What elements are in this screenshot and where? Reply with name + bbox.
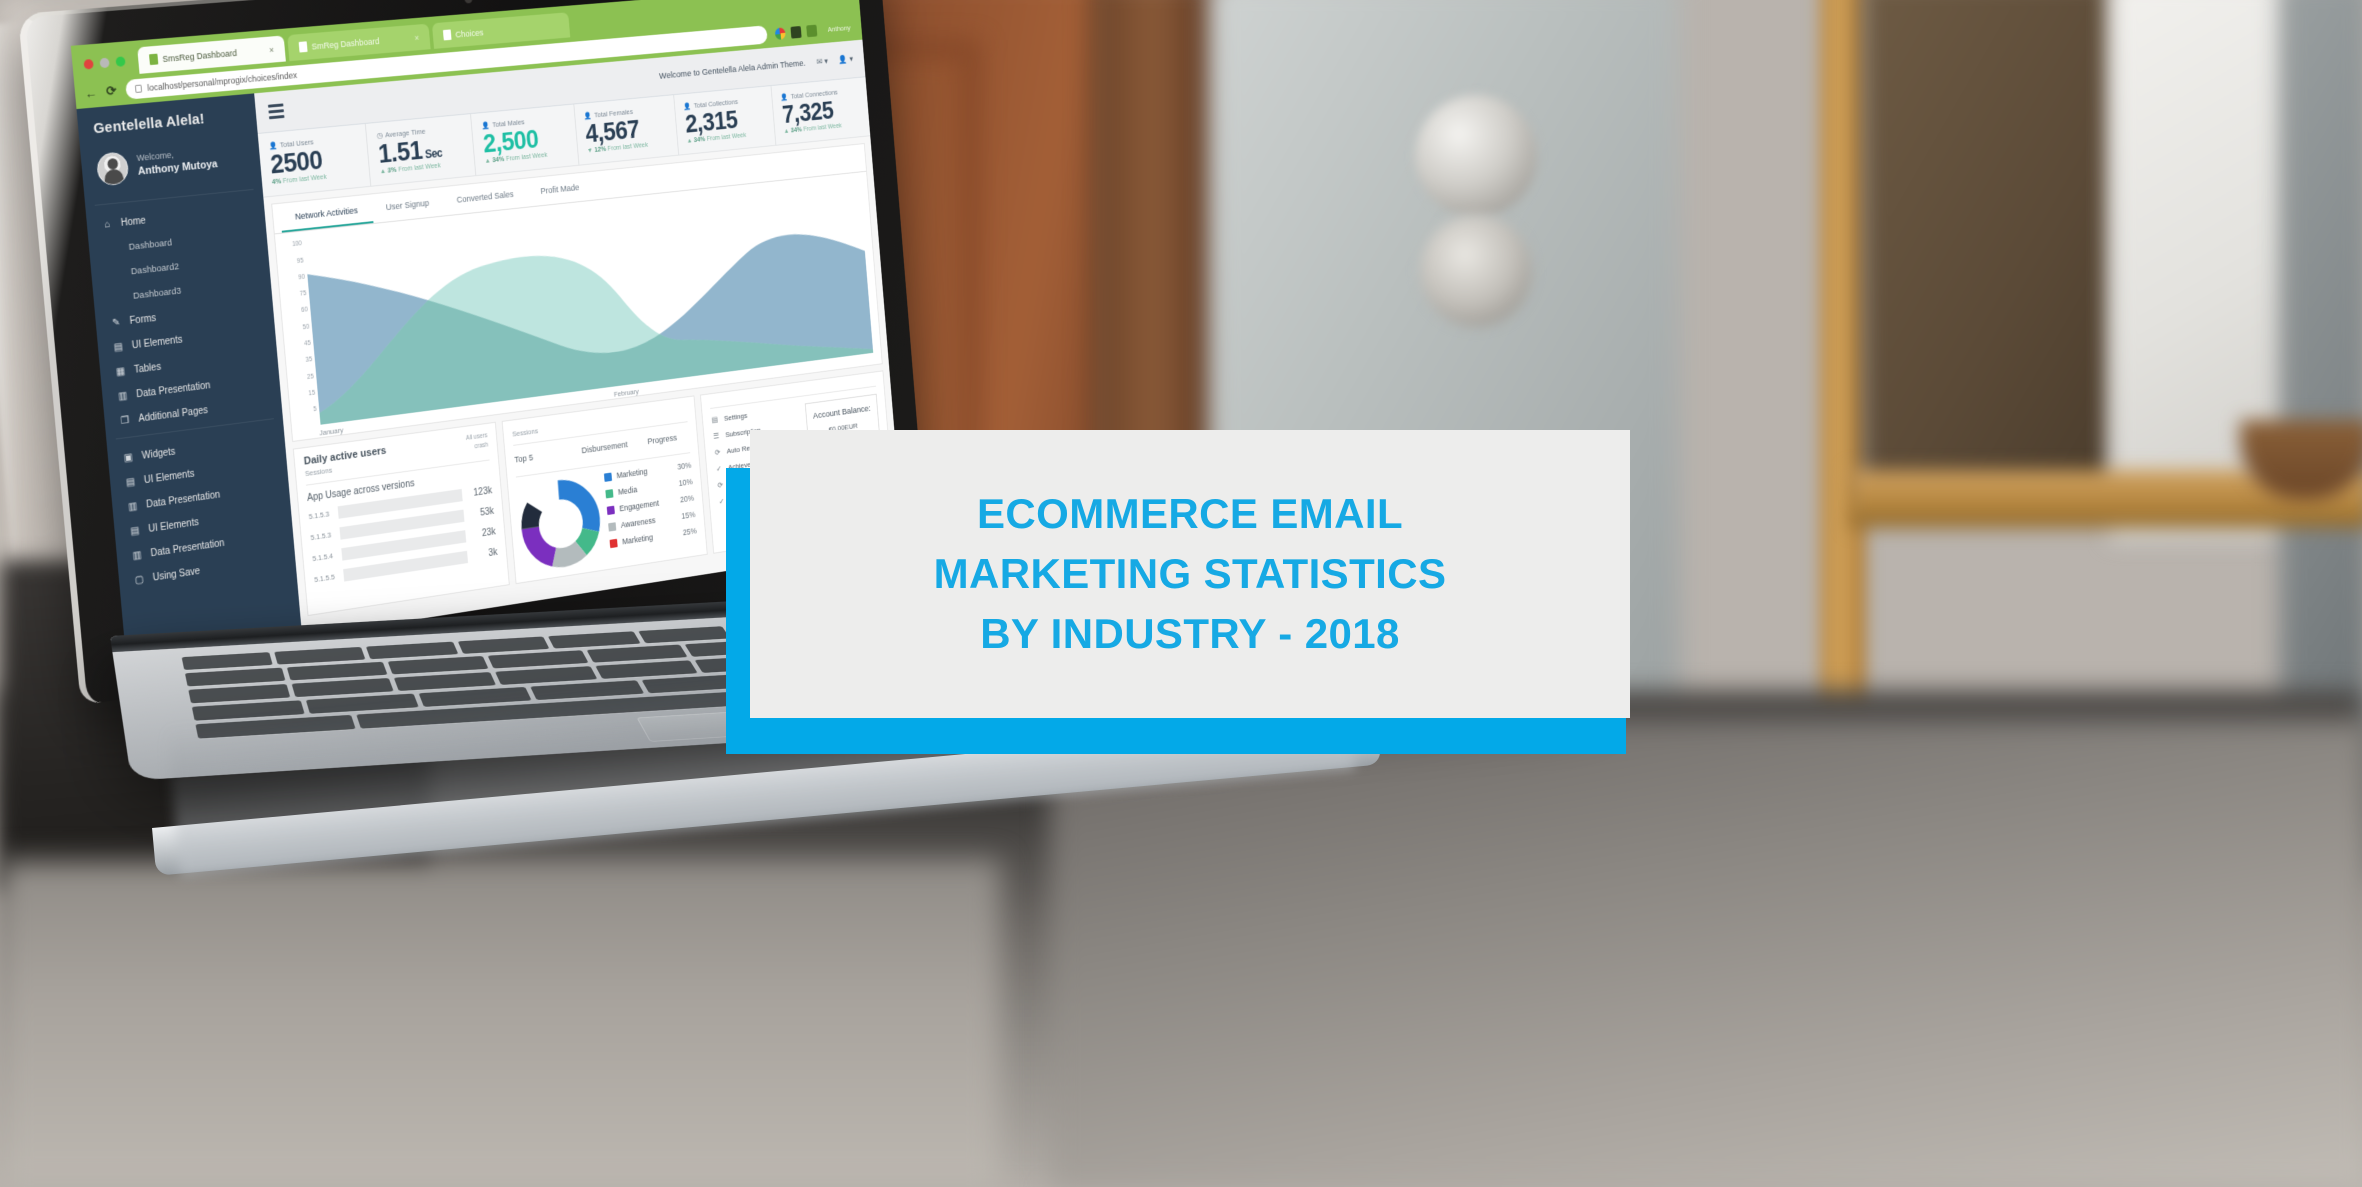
donut-chart [517, 474, 605, 575]
top5-disbursement-panel: Sessions Top 5 Disbursement Progress [502, 396, 708, 585]
key [366, 642, 458, 660]
user-icon[interactable]: 👤 ▾ [838, 54, 853, 65]
window-icon: ▤ [129, 525, 140, 537]
legend-label: Marketing [616, 463, 673, 480]
key [388, 656, 489, 674]
background-shelf-dark [1862, 0, 2112, 500]
check-icon: ✓ [718, 497, 726, 506]
legend-label: Marketing [622, 529, 678, 547]
column-disbursement: Disbursement [581, 437, 648, 455]
browser-tab-label: SmsReg Dashboard [162, 48, 237, 64]
title-line-2: MARKETING STATISTICS [934, 547, 1447, 601]
chart-icon: ▥ [117, 390, 128, 402]
usage-version-label: 5.1.5.4 [312, 551, 336, 563]
tab-favicon-icon [149, 54, 158, 65]
legend-value: 30% [677, 461, 692, 472]
sidebar-item-label: Dashboard [128, 237, 172, 252]
key [181, 652, 273, 670]
stat-tile-change-pct: 3% [387, 167, 396, 175]
back-arrow-icon[interactable]: ← [84, 85, 98, 101]
usage-bar-value: 3k [473, 548, 498, 562]
tab-favicon-icon [299, 41, 308, 52]
title-line-3: BY INDUSTRY - 2018 [980, 607, 1400, 661]
stat-tile-total-females[interactable]: 👤 Total Females 4,567 ▼ 12% From last We… [573, 95, 678, 165]
y-tick: 75 [289, 290, 307, 299]
extension-green-icon[interactable] [806, 24, 817, 37]
legend-value: 20% [680, 493, 695, 504]
legend-swatch-icon [607, 505, 615, 514]
browser-tab-label: Choices [455, 27, 484, 39]
y-tick: 15 [298, 390, 316, 399]
y-tick: 60 [290, 307, 308, 316]
stat-tile-change-pct: 12% [594, 146, 606, 154]
key [638, 626, 730, 643]
close-window-icon[interactable] [83, 59, 93, 70]
stat-tile-total-collections[interactable]: 👤 Total Collections 2,315 ▲ 34% From las… [673, 86, 775, 155]
sidebar-item-label: Home [120, 216, 146, 229]
sidebar-item-label: Tables [134, 362, 162, 376]
widget-icon: ▣ [123, 452, 134, 464]
address-bar-url: localhost/personal/mprogix/choices/index [147, 70, 298, 93]
extension-color-icon[interactable] [774, 27, 785, 40]
sidebar-item-label: UI Elements [144, 469, 195, 486]
legend-label: Awareness [620, 513, 677, 530]
key [458, 636, 550, 653]
legend-label: Media [618, 480, 675, 497]
key [548, 631, 640, 648]
webcam-icon [464, 0, 472, 4]
key [495, 666, 598, 685]
legend-value: 10% [678, 477, 693, 488]
title-card: ECOMMERCE EMAIL MARKETING STATISTICS BY … [750, 430, 1630, 718]
y-tick: 45 [293, 340, 311, 349]
stat-tile-total-connections[interactable]: 👤 Total Connections 7,325 ▲ 34% From las… [770, 77, 870, 145]
tab-close-icon[interactable]: × [269, 45, 275, 55]
home-icon: ⌂ [102, 219, 113, 231]
key [595, 660, 698, 679]
y-tick: 90 [288, 274, 306, 283]
key [394, 672, 496, 691]
tab-close-icon[interactable]: × [414, 33, 419, 43]
settings-item-label: Settings [724, 412, 748, 423]
stat-tile-change-pct: 34% [694, 137, 706, 145]
y-tick: 95 [286, 257, 304, 266]
sidebar-item-label: Dashboard3 [133, 286, 182, 302]
sidebar-item-label: UI Elements [148, 517, 199, 535]
legend-swatch-icon [608, 522, 616, 531]
sidebar-item-label: Data Presentation [136, 380, 211, 400]
usage-version-label: 5.1.5.3 [310, 530, 334, 542]
usage-version-label: 5.1.5.3 [308, 509, 332, 521]
usage-bar-value: 53k [470, 506, 495, 520]
browser-profile-label[interactable]: Anthony [824, 23, 854, 34]
key [286, 662, 387, 681]
column-progress: Progress [647, 431, 689, 446]
edit-icon: ✎ [111, 317, 122, 329]
background-shelf-post [1820, 0, 1866, 780]
sidebar-item-label: UI Elements [131, 335, 182, 352]
stat-tile-unit: Sec [425, 146, 443, 161]
panel-note: All users crash [466, 432, 489, 453]
donut-and-legend: Marketing 30% Media 10% [517, 461, 698, 575]
y-tick: 5 [299, 406, 317, 415]
window-icon: ▤ [125, 477, 136, 489]
window-icon: ▤ [113, 342, 124, 354]
table-icon: ▦ [115, 366, 126, 378]
stat-tile-change-pct: 34% [492, 156, 505, 164]
stat-tile-total-males[interactable]: 👤 Total Males 2,500 ▲ 34% From last Week [470, 105, 578, 176]
usage-version-label: 5.1.5.5 [314, 572, 338, 584]
sidebar-item-label: Dashboard2 [130, 261, 179, 277]
chart-icon: ▥ [132, 550, 143, 562]
y-tick: 25 [296, 373, 314, 382]
minimize-window-icon[interactable] [99, 58, 109, 69]
y-tick: 100 [285, 240, 303, 249]
stat-tile-average-time[interactable]: ◷ Average Time 1.51Sec ▲ 3% From last We… [365, 114, 476, 186]
key [488, 650, 589, 668]
title-line-1: ECOMMERCE EMAIL [977, 487, 1403, 541]
stat-tile-total-users[interactable]: 👤 Total Users 2500 4% From last Week [258, 124, 371, 197]
chart-icon: ▥ [127, 501, 138, 513]
legend-label: Engagement [619, 496, 676, 513]
browser-tab-label: SmReg Dashboard [311, 36, 380, 51]
save-icon: ▢ [134, 574, 145, 586]
refresh-icon: ⟳ [714, 448, 722, 457]
y-tick: 35 [295, 357, 313, 366]
column-top5: Top 5 [514, 446, 582, 465]
sidebar-item-label: Additional Pages [138, 405, 208, 424]
balance-title: Account Balance: [813, 404, 871, 422]
key [587, 645, 688, 663]
legend-swatch-icon [610, 539, 618, 548]
key [184, 668, 285, 687]
list-icon: ☰ [712, 432, 720, 441]
sidebar-item-label: Forms [129, 313, 156, 327]
sidebar-item-label: Widgets [141, 447, 175, 462]
extension-dark-icon[interactable] [790, 26, 801, 39]
note-icon: ▤ [711, 415, 719, 424]
welcome-message: Welcome to Gentelella Alela Admin Theme. [659, 58, 806, 81]
refresh-icon: ⟳ [716, 481, 724, 490]
stat-tile-change-pct: 34% [791, 127, 803, 134]
usage-bar-value: 123k [468, 486, 493, 500]
sidebar-item-label: Using Save [152, 566, 200, 584]
legend-swatch-icon [604, 472, 612, 481]
legend-swatch-icon [605, 489, 613, 498]
key [291, 678, 393, 697]
check-icon: ✓ [715, 464, 723, 473]
sidebar-item-label: Data Presentation [146, 490, 221, 511]
envelope-icon[interactable]: ✉ ▾ [816, 56, 828, 67]
hamburger-icon[interactable] [268, 104, 285, 120]
browser-extensions[interactable] [774, 24, 817, 39]
stat-tile-change-pct: 4% [272, 179, 282, 187]
legend-value: 15% [681, 510, 696, 521]
tab-favicon-icon [443, 29, 452, 40]
legend-value: 25% [682, 526, 697, 537]
maximize-window-icon[interactable] [115, 56, 125, 67]
pages-icon: ❐ [119, 415, 130, 427]
key [274, 647, 366, 665]
avatar [96, 151, 130, 186]
stat-tile-number: 1.51 [377, 136, 423, 169]
daily-active-users-panel: Daily active users Sessions All users cr… [293, 422, 510, 616]
y-tick: 50 [292, 323, 310, 332]
reload-icon[interactable]: ⟳ [106, 83, 118, 100]
key [188, 684, 290, 703]
usage-bar-value: 23k [471, 527, 496, 541]
page-info-icon [135, 85, 142, 93]
